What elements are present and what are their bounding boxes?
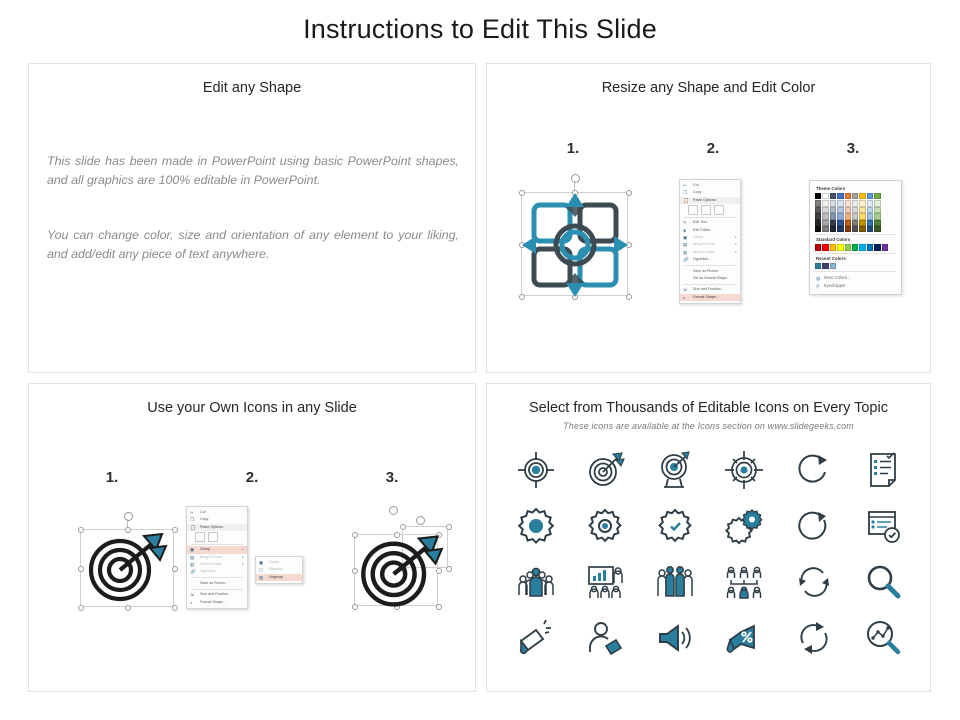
divider bbox=[815, 234, 896, 235]
menu-item-hyperlink[interactable]: 🔗Hyperlink... bbox=[680, 256, 740, 263]
icon-gear-outline[interactable] bbox=[583, 504, 627, 548]
icon-megaphone[interactable] bbox=[514, 616, 558, 660]
icon-people-team[interactable] bbox=[653, 560, 697, 604]
hyperlink-icon: 🔗 bbox=[190, 569, 196, 575]
presentation-training-icon bbox=[585, 562, 625, 602]
submenu-item-label: Group bbox=[269, 560, 279, 564]
resize-handle-sw[interactable] bbox=[78, 605, 84, 611]
theme-colors-base-row[interactable] bbox=[815, 193, 896, 199]
theme-colors-tint-grid[interactable] bbox=[815, 200, 896, 232]
target-icon-selected-figure[interactable] bbox=[71, 512, 181, 622]
theme-tint-column-6 bbox=[859, 200, 865, 232]
rotation-handle[interactable] bbox=[571, 174, 580, 183]
menu-item-size-and-position[interactable]: ⇲Size and Position... bbox=[680, 286, 740, 293]
panel-heading: Select from Thousands of Editable Icons … bbox=[487, 400, 930, 416]
eyedropper-button[interactable]: ⚲Eyedropper bbox=[815, 282, 896, 290]
theme-tint-column-7 bbox=[867, 200, 873, 232]
edit-points-icon: ◈ bbox=[683, 228, 689, 234]
icon-speaker-horn[interactable] bbox=[653, 616, 697, 660]
theme-tint-6-4[interactable] bbox=[859, 226, 865, 232]
recent-swatch-0[interactable] bbox=[815, 263, 821, 269]
menu-item-copy[interactable]: ❐Copy bbox=[187, 516, 247, 523]
standard-swatch-8[interactable] bbox=[874, 244, 880, 250]
menu-item-label: Copy bbox=[200, 517, 208, 521]
icon-double-gear[interactable] bbox=[722, 504, 766, 548]
theme-tint-7-4[interactable] bbox=[867, 226, 873, 232]
icon-gallery-grid bbox=[501, 442, 918, 666]
paste-keep-formatting-button[interactable] bbox=[688, 205, 698, 215]
theme-tint-5-4[interactable] bbox=[852, 226, 858, 232]
send-back-icon: ▥ bbox=[190, 562, 196, 568]
icon-gear-filled[interactable] bbox=[514, 504, 558, 548]
menu-item-label: Send to Back bbox=[693, 250, 714, 254]
menu-item-bring-to-front[interactable]: ▤Bring to Front▸ bbox=[187, 554, 247, 561]
theme-swatch-0[interactable] bbox=[815, 193, 821, 199]
resize-handle-ne[interactable] bbox=[172, 527, 178, 533]
theme-tint-column-4 bbox=[845, 200, 851, 232]
menu-item-paste-options: 📋Paste Options: bbox=[680, 197, 740, 204]
menu-separator bbox=[684, 265, 736, 266]
theme-tint-4-4[interactable] bbox=[845, 226, 851, 232]
icon-refresh-arrow[interactable] bbox=[792, 448, 836, 492]
megaphone-percent-icon bbox=[724, 618, 764, 658]
target-arrow-icon bbox=[585, 450, 625, 490]
paste-option-buttons[interactable] bbox=[680, 204, 740, 215]
size-position-icon: ⇲ bbox=[190, 592, 196, 598]
menu-separator bbox=[684, 284, 736, 285]
crosshair-target-icon bbox=[516, 450, 556, 490]
menu-item-label: Hyperlink... bbox=[200, 569, 218, 573]
standard-swatch-7[interactable] bbox=[867, 244, 873, 250]
target-stand-icon bbox=[655, 450, 695, 490]
org-chart-team-icon bbox=[724, 562, 764, 602]
menu-item-label: Paste Options: bbox=[693, 198, 717, 202]
panel-use-own-icons: Use your Own Icons in any Slide 1. 2. 3. bbox=[28, 383, 476, 692]
hyperlink-icon: 🔗 bbox=[683, 257, 689, 263]
paste-icon: 📋 bbox=[190, 525, 196, 531]
description-paragraph-2: You can change color, size and orientati… bbox=[47, 226, 459, 264]
paste-keep-formatting-button[interactable] bbox=[195, 532, 205, 542]
theme-tint-column-1 bbox=[822, 200, 828, 232]
standard-swatch-1[interactable] bbox=[822, 244, 828, 250]
standard-swatch-5[interactable] bbox=[852, 244, 858, 250]
menu-item-format-shape[interactable]: ◐Format Shape... bbox=[187, 599, 247, 606]
crosshair-detailed-icon bbox=[724, 450, 764, 490]
icon-magnifier[interactable] bbox=[861, 560, 905, 604]
group-icon: ▣ bbox=[190, 547, 196, 553]
paste-picture-button[interactable] bbox=[208, 532, 218, 542]
group-submenu[interactable]: ▣Group ▢Regroup ▨Ungroup bbox=[255, 556, 303, 584]
chevron-right-icon: ▸ bbox=[735, 234, 737, 241]
menu-item-size-and-position[interactable]: ⇲Size and Position... bbox=[187, 591, 247, 598]
four-squares-arrows-shape bbox=[520, 191, 630, 297]
megaphone-icon bbox=[516, 618, 556, 658]
icon-document-approved[interactable] bbox=[861, 504, 905, 548]
menu-item-group[interactable]: ▣Group▸ bbox=[680, 234, 740, 241]
icon-crosshair-detailed[interactable] bbox=[722, 448, 766, 492]
double-gear-icon bbox=[724, 506, 764, 546]
standard-swatch-3[interactable] bbox=[837, 244, 843, 250]
menu-item-label: Cut bbox=[200, 510, 206, 514]
more-colors-label: More Colors... bbox=[824, 275, 850, 280]
standard-swatch-9[interactable] bbox=[882, 244, 888, 250]
recent-colors-label: Recent Colors bbox=[816, 256, 896, 261]
icon-target-stand[interactable] bbox=[653, 448, 697, 492]
icon-checklist-document[interactable] bbox=[861, 448, 905, 492]
theme-tint-column-2 bbox=[830, 200, 836, 232]
menu-item-paste-options: 📋Paste Options: bbox=[187, 524, 247, 531]
panel-heading: Edit any Shape bbox=[29, 80, 475, 96]
magnifier-analytics-icon bbox=[863, 618, 903, 658]
chevron-right-icon: ▸ bbox=[735, 249, 737, 256]
circular-sync-icon bbox=[794, 618, 834, 658]
menu-item-label: Cut bbox=[693, 183, 699, 187]
icon-context-menu[interactable]: ✂Cut ❐Copy 📋Paste Options: ▣Group▸ ▤Brin… bbox=[186, 506, 248, 609]
resize-handle-e[interactable] bbox=[172, 566, 178, 572]
panel-subheading: These icons are available at the Icons s… bbox=[487, 421, 930, 431]
menu-item-label: Group bbox=[200, 547, 210, 551]
speaker-horn-icon bbox=[655, 618, 695, 658]
target-arrow-icon bbox=[356, 534, 446, 610]
submenu-item-ungroup[interactable]: ▨Ungroup bbox=[256, 574, 302, 581]
theme-tint-column-5 bbox=[852, 200, 858, 232]
edit-text-icon: ✎ bbox=[683, 220, 689, 226]
gear-filled-icon bbox=[516, 506, 556, 546]
copy-icon: ❐ bbox=[190, 517, 196, 523]
theme-tint-2-4[interactable] bbox=[830, 226, 836, 232]
chevron-right-icon: ▸ bbox=[242, 561, 244, 568]
arrow-handle-ne[interactable] bbox=[446, 524, 452, 530]
gear-outline-icon bbox=[585, 506, 625, 546]
step-number-1: 1. bbox=[553, 140, 593, 157]
more-colors-button[interactable]: ◍More Colors... bbox=[815, 274, 896, 282]
checklist-document-icon bbox=[863, 450, 903, 490]
menu-item-label: Format Shape... bbox=[693, 295, 719, 299]
menu-item-send-to-back[interactable]: ▥Send to Back▸ bbox=[680, 249, 740, 256]
icon-megaphone-percent[interactable] bbox=[722, 616, 766, 660]
arrow-handle-nw[interactable] bbox=[400, 524, 406, 530]
menu-item-hyperlink[interactable]: 🔗Hyperlink... bbox=[187, 568, 247, 575]
scissors-icon: ✂ bbox=[683, 183, 689, 189]
menu-item-bring-to-front[interactable]: ▤Bring to Front▸ bbox=[680, 241, 740, 248]
menu-item-label: Send to Back bbox=[200, 562, 221, 566]
menu-item-save-as-picture[interactable]: Save as Picture... bbox=[187, 580, 247, 587]
menu-item-label: Set as Default Shape bbox=[693, 276, 727, 280]
icon-circular-arrow[interactable] bbox=[792, 504, 836, 548]
arrow-handle-se[interactable] bbox=[446, 566, 452, 572]
send-back-icon: ▥ bbox=[683, 250, 689, 256]
theme-tint-column-3 bbox=[837, 200, 843, 232]
team-group-icon bbox=[516, 562, 556, 602]
theme-tint-column-8 bbox=[874, 200, 880, 232]
target-arrow-icon bbox=[84, 532, 170, 604]
step-number-2: 2. bbox=[693, 140, 733, 157]
menu-item-label: Group bbox=[693, 235, 703, 239]
icon-gear-check[interactable] bbox=[653, 504, 697, 548]
icon-two-way-sync[interactable] bbox=[792, 560, 836, 604]
menu-item-cut[interactable]: ✂Cut bbox=[187, 509, 247, 516]
step-number-1: 1. bbox=[92, 469, 132, 486]
paste-picture-button[interactable] bbox=[701, 205, 711, 215]
slide-canvas: Instructions to Edit This Slide Edit any… bbox=[0, 0, 960, 720]
person-megaphone-icon bbox=[585, 618, 625, 658]
submenu-item-group[interactable]: ▣Group bbox=[256, 559, 302, 566]
eyedropper-label: Eyedropper bbox=[824, 283, 846, 288]
theme-tint-column-0 bbox=[815, 200, 821, 232]
menu-item-group[interactable]: ▣Group▸ bbox=[187, 546, 247, 553]
theme-swatch-8[interactable] bbox=[874, 193, 880, 199]
menu-item-label: Edit Text bbox=[693, 220, 707, 224]
menu-item-label: Edit Points bbox=[693, 228, 710, 232]
ungroup-icon: ▨ bbox=[259, 575, 265, 581]
theme-swatch-3[interactable] bbox=[837, 193, 843, 199]
menu-item-format-shape[interactable]: ◐Format Shape... bbox=[680, 294, 740, 301]
menu-item-label: Save as Picture... bbox=[693, 269, 721, 273]
scissors-icon: ✂ bbox=[190, 510, 196, 516]
divider bbox=[815, 253, 896, 254]
menu-item-send-to-back[interactable]: ▥Send to Back▸ bbox=[187, 561, 247, 568]
theme-tint-1-4[interactable] bbox=[822, 226, 828, 232]
menu-item-edit-text[interactable]: ✎Edit Text bbox=[680, 219, 740, 226]
menu-item-label: Format Shape... bbox=[200, 600, 226, 604]
menu-item-edit-points[interactable]: ◈Edit Points bbox=[680, 227, 740, 234]
refresh-arrow-icon bbox=[794, 450, 834, 490]
submenu-item-regroup[interactable]: ▢Regroup bbox=[256, 566, 302, 573]
menu-item-cut[interactable]: ✂Cut bbox=[680, 182, 740, 189]
shape-context-menu[interactable]: ✂Cut ❐Copy 📋Paste Options: ✎Edit Text ◈E… bbox=[679, 179, 741, 304]
icon-presentation-training[interactable] bbox=[583, 560, 627, 604]
people-team-icon bbox=[655, 562, 695, 602]
menu-item-label: Hyperlink... bbox=[693, 257, 711, 261]
icon-team-group[interactable] bbox=[514, 560, 558, 604]
resize-handle-s[interactable] bbox=[125, 605, 131, 611]
eyedropper-icon: ⚲ bbox=[816, 283, 820, 291]
panel-resize-shape-edit-color: Resize any Shape and Edit Color 1. 2. 3. bbox=[486, 63, 931, 373]
paste-option-buttons[interactable] bbox=[187, 531, 247, 542]
chevron-right-icon: ▸ bbox=[735, 241, 737, 248]
standard-swatch-2[interactable] bbox=[830, 244, 836, 250]
standard-swatch-0[interactable] bbox=[815, 244, 821, 250]
icon-person-megaphone[interactable] bbox=[583, 616, 627, 660]
recent-colors-row[interactable] bbox=[815, 263, 896, 269]
divider bbox=[815, 271, 896, 272]
theme-tint-8-4[interactable] bbox=[874, 226, 880, 232]
format-shape-icon: ◐ bbox=[683, 295, 689, 301]
paste-icon: 📋 bbox=[683, 198, 689, 204]
step-number-3: 3. bbox=[833, 140, 873, 157]
menu-item-label: Save as Picture... bbox=[200, 581, 228, 585]
menu-item-save-as-picture[interactable]: Save as Picture... bbox=[680, 268, 740, 275]
regroup-icon: ▢ bbox=[259, 567, 265, 573]
panel-editable-icons: Select from Thousands of Editable Icons … bbox=[486, 383, 931, 692]
icon-crosshair-target[interactable] bbox=[514, 448, 558, 492]
menu-separator bbox=[191, 544, 243, 545]
standard-colors-row[interactable] bbox=[815, 244, 896, 250]
rotation-handle[interactable] bbox=[124, 512, 133, 521]
icon-target-arrow[interactable] bbox=[583, 448, 627, 492]
step-number-3: 3. bbox=[372, 469, 412, 486]
submenu-item-label: Regroup bbox=[269, 567, 283, 571]
menu-item-label: Size and Position... bbox=[693, 287, 724, 291]
icon-magnifier-analytics[interactable] bbox=[861, 616, 905, 660]
recent-swatch-1[interactable] bbox=[822, 263, 828, 269]
theme-tint-3-4[interactable] bbox=[837, 226, 843, 232]
step-number-2: 2. bbox=[232, 469, 272, 486]
menu-item-label: Size and Position... bbox=[200, 592, 231, 596]
menu-separator bbox=[191, 589, 243, 590]
standard-swatch-6[interactable] bbox=[859, 244, 865, 250]
menu-item-copy[interactable]: ❐Copy bbox=[680, 189, 740, 196]
menu-separator bbox=[191, 577, 243, 578]
theme-swatch-5[interactable] bbox=[852, 193, 858, 199]
standard-swatch-4[interactable] bbox=[845, 244, 851, 250]
panel-heading: Use your Own Icons in any Slide bbox=[29, 400, 475, 416]
menu-item-set-default-shape[interactable]: Set as Default Shape bbox=[680, 275, 740, 282]
chevron-right-icon: ▸ bbox=[242, 554, 244, 561]
resize-handle-se[interactable] bbox=[172, 605, 178, 611]
group-icon: ▣ bbox=[259, 560, 265, 566]
magnifier-icon bbox=[863, 562, 903, 602]
rotation-handle[interactable] bbox=[389, 506, 398, 515]
recent-swatch-2[interactable] bbox=[830, 263, 836, 269]
document-approved-icon bbox=[863, 506, 903, 546]
panel-heading: Resize any Shape and Edit Color bbox=[487, 80, 930, 96]
theme-colors-label: Theme Colors bbox=[816, 186, 896, 191]
panel-edit-any-shape: Edit any Shape This slide has been made … bbox=[28, 63, 476, 373]
icon-org-chart-team[interactable] bbox=[722, 560, 766, 604]
copy-icon: ❐ bbox=[683, 190, 689, 196]
theme-tint-0-4[interactable] bbox=[815, 226, 821, 232]
submenu-item-label: Ungroup bbox=[269, 575, 283, 579]
menu-item-label: Paste Options: bbox=[200, 525, 224, 529]
menu-item-label: Bring to Front bbox=[693, 242, 715, 246]
theme-swatch-6[interactable] bbox=[859, 193, 865, 199]
two-way-sync-icon bbox=[794, 562, 834, 602]
theme-swatch-4[interactable] bbox=[845, 193, 851, 199]
size-position-icon: ⇲ bbox=[683, 287, 689, 293]
menu-item-label: Bring to Front bbox=[200, 555, 222, 559]
menu-separator bbox=[684, 217, 736, 218]
format-shape-icon: ◐ bbox=[190, 600, 196, 606]
description-paragraph-1: This slide has been made in PowerPoint u… bbox=[47, 152, 459, 190]
page-title: Instructions to Edit This Slide bbox=[0, 14, 960, 45]
theme-swatch-7[interactable] bbox=[867, 193, 873, 199]
rotation-handle-arrow[interactable] bbox=[416, 516, 425, 525]
chevron-right-icon: ▸ bbox=[242, 546, 244, 553]
menu-item-label: Copy bbox=[693, 190, 701, 194]
target-icon-ungrouped-figure[interactable] bbox=[344, 504, 462, 624]
theme-swatch-2[interactable] bbox=[830, 193, 836, 199]
standard-colors-label: Standard Colors bbox=[816, 237, 896, 242]
bring-front-icon: ▤ bbox=[190, 555, 196, 561]
color-picker-panel[interactable]: Theme Colors Standard Colors Recent Colo… bbox=[809, 180, 902, 295]
selected-shape-figure[interactable] bbox=[509, 174, 639, 309]
gear-check-icon bbox=[655, 506, 695, 546]
group-icon: ▣ bbox=[683, 235, 689, 241]
icon-circular-sync[interactable] bbox=[792, 616, 836, 660]
bring-front-icon: ▤ bbox=[683, 242, 689, 248]
theme-swatch-1[interactable] bbox=[822, 193, 828, 199]
paste-text-button[interactable] bbox=[714, 205, 724, 215]
circular-arrow-icon bbox=[794, 506, 834, 546]
